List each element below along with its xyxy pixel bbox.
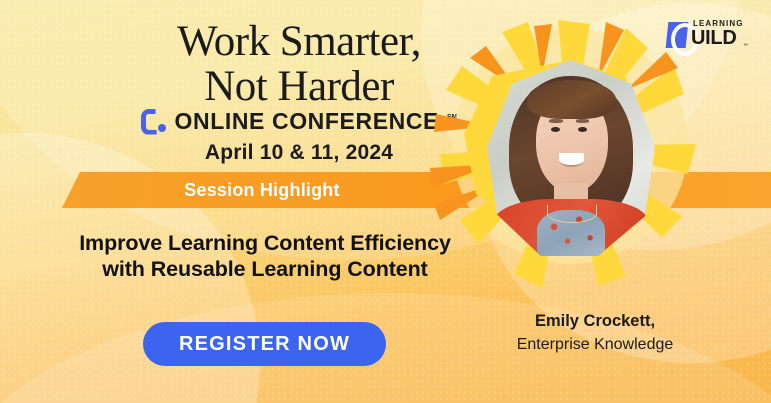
register-now-button[interactable]: REGISTER NOW [143, 322, 386, 366]
guild-logo-uild: UILD [691, 27, 736, 50]
speaker-organization: Enterprise Knowledge [470, 336, 720, 354]
conference-date: April 10 & 11, 2024 [124, 141, 474, 165]
session-title: Improve Learning Content Efficiency with… [40, 230, 490, 282]
session-highlight-label: Session Highlight [62, 172, 462, 208]
speaker-name: Emily Crockett, [470, 312, 720, 331]
page-title: Work Smarter, Not Harder [124, 19, 474, 109]
learning-guild-logo: LEARNING UILD ™ [667, 15, 749, 55]
speaker-photo [487, 60, 655, 258]
guild-g-mark-icon [667, 22, 693, 50]
guild-logo-trademark: ™ [743, 43, 748, 49]
online-conference-bracket-icon [141, 109, 167, 135]
online-conference-lockup: ONLINE CONFERENCE SM [124, 108, 474, 135]
promotional-banner: Work Smarter, Not Harder ONLINE CONFEREN… [0, 0, 771, 403]
conference-name: ONLINE CONFERENCE [175, 108, 440, 135]
